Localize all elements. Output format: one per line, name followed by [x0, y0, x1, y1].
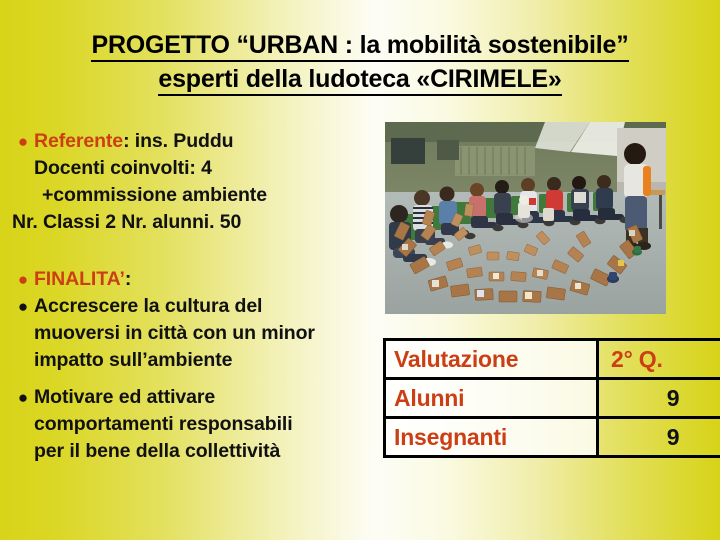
bullet-dot-icon: ●	[12, 293, 34, 320]
table-cell-label: Valutazione	[385, 340, 598, 379]
referente-label: Referente	[34, 130, 123, 152]
goal-2-line-1: Motivare ed attivare	[34, 384, 372, 411]
slide-title: PROGETTO “URBAN : la mobilità sostenibil…	[0, 28, 720, 96]
evaluation-table: Valutazione 2° Q. Alunni 9 Insegnanti 9	[383, 338, 720, 458]
goal-1-line-3: impatto sull’ambiente	[34, 347, 372, 374]
finalita-row: ● FINALITA’:	[12, 266, 372, 293]
referente-text: Referente: ins. Puddu	[34, 128, 372, 155]
docenti-line: Docenti coinvolti: 4	[12, 155, 372, 182]
evaluation-table-body: Valutazione 2° Q. Alunni 9 Insegnanti 9	[385, 340, 720, 457]
classi-alunni-line: Nr. Classi 2 Nr. alunni. 50	[12, 209, 372, 236]
commissione-line: +commissione ambiente	[12, 182, 372, 209]
spacer	[12, 236, 372, 266]
goal-1-text: Accrescere la cultura del muoversi in ci…	[34, 293, 372, 374]
bullet-dot-icon: ●	[12, 266, 34, 293]
bullet-dot-icon: ●	[12, 384, 34, 411]
table-row: Alunni 9	[385, 379, 720, 418]
title-line-2: esperti della ludoteca «CIRIMELE»	[0, 62, 720, 96]
goal-2-line-2: comportamenti responsabili	[34, 411, 372, 438]
spacer	[12, 374, 372, 384]
table-cell-value: 2° Q.	[598, 340, 720, 379]
bullet-dot-icon: ●	[12, 128, 34, 155]
finalita-label: FINALITA’	[34, 268, 125, 290]
table-cell-value: 9	[598, 379, 720, 418]
goal-2-line-3: per il bene della collettività	[34, 438, 372, 465]
finalita-text: FINALITA’:	[34, 266, 372, 293]
slide-canvas: PROGETTO “URBAN : la mobilità sostenibil…	[0, 0, 720, 540]
title-line-1-text: PROGETTO “URBAN : la mobilità sostenibil…	[91, 31, 628, 62]
table-row: Valutazione 2° Q.	[385, 340, 720, 379]
goal-1-line-1: Accrescere la cultura del	[34, 293, 372, 320]
classroom-activity-photo	[385, 122, 666, 314]
title-line-2-text: esperti della ludoteca «CIRIMELE»	[158, 65, 561, 96]
left-content-column: ● Referente: ins. Puddu Docenti coinvolt…	[12, 128, 372, 465]
goal-2-text: Motivare ed attivare comportamenti respo…	[34, 384, 372, 465]
photo-illustration	[385, 122, 666, 314]
finalita-colon: :	[125, 268, 131, 290]
goal-2-row: ● Motivare ed attivare comportamenti res…	[12, 384, 372, 465]
finalita-block: ● FINALITA’: ● Accrescere la cultura del…	[12, 266, 372, 465]
referente-row: ● Referente: ins. Puddu	[12, 128, 372, 155]
title-line-1: PROGETTO “URBAN : la mobilità sostenibil…	[0, 28, 720, 62]
referente-value: : ins. Puddu	[123, 130, 233, 152]
referente-block: ● Referente: ins. Puddu Docenti coinvolt…	[12, 128, 372, 236]
table-cell-label: Alunni	[385, 379, 598, 418]
table-row: Insegnanti 9	[385, 418, 720, 457]
table-cell-value: 9	[598, 418, 720, 457]
goal-1-line-2: muoversi in città con un minor	[34, 320, 372, 347]
table-cell-label: Insegnanti	[385, 418, 598, 457]
goal-1-row: ● Accrescere la cultura del muoversi in …	[12, 293, 372, 374]
